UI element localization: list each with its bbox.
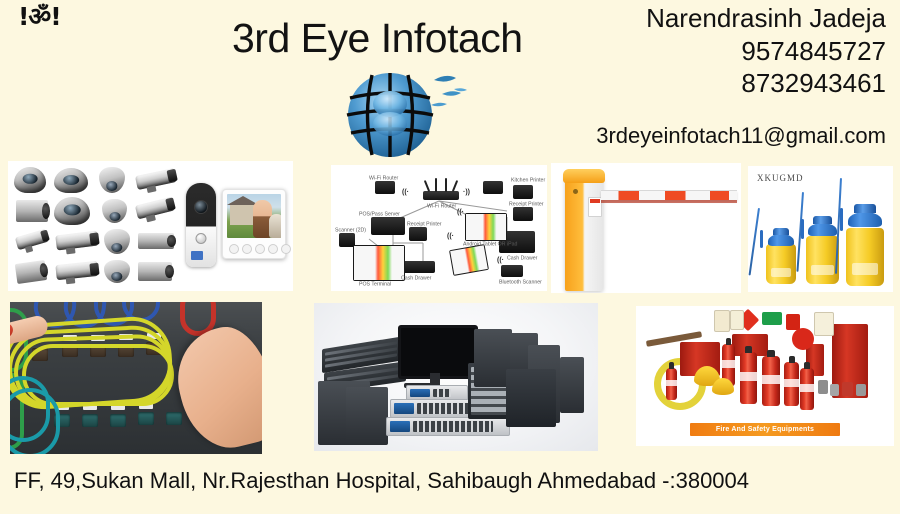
hardware-photo — [314, 303, 598, 451]
wifi-signal-icon: ((· — [402, 189, 409, 196]
fire-extinguisher-icon — [784, 362, 799, 406]
owner-name: Narendrasinh Jadeja — [506, 2, 886, 35]
globe-icon — [330, 58, 475, 163]
network-label: POS Terminal — [359, 281, 391, 287]
fire-extinguisher-icon — [740, 352, 757, 404]
patch-port — [82, 414, 98, 427]
cctv-camera-grid — [12, 165, 182, 287]
contact-block: Narendrasinh Jadeja 9574845727 873294346… — [506, 2, 886, 99]
teal-cable — [10, 388, 60, 454]
monitor-button[interactable] — [229, 244, 239, 254]
box-camera-icon — [138, 233, 174, 249]
video-door-phone — [186, 177, 286, 277]
wifi-signal-icon: ((· — [497, 257, 504, 264]
monitor-icon — [398, 325, 478, 379]
ptz-camera-icon — [102, 199, 127, 223]
pos-terminal-icon — [353, 245, 405, 281]
accessory-icon — [842, 382, 853, 396]
monitor-button[interactable] — [242, 244, 252, 254]
om-symbol-icon: !ॐ! — [18, 2, 61, 32]
panel-pos-network-diagram: ((· ·)) ((· ((· ((· — [331, 165, 547, 291]
dome-camera-icon — [14, 167, 46, 193]
network-label: Scanner (2D) — [335, 227, 366, 233]
fire-extinguisher-icon — [800, 368, 814, 410]
panel-fire-safety: Fire And Safety Equipments — [636, 306, 894, 446]
printer-icon — [375, 181, 395, 194]
safety-helmet-icon — [712, 378, 734, 395]
bullet-camera-icon — [135, 197, 175, 220]
receipt-printer-icon — [513, 207, 533, 221]
monitor-button[interactable] — [255, 244, 265, 254]
bullet-camera-icon — [55, 261, 98, 280]
wifi-router-icon — [423, 191, 459, 200]
panel-computer-hardware — [314, 303, 598, 451]
safety-poster-icon — [814, 312, 834, 336]
network-label: Wi-Fi Router — [427, 203, 456, 209]
sprayer-brand-label: XKUGMD — [757, 173, 804, 183]
patch-port — [166, 412, 182, 425]
fire-safety-banner: Fire And Safety Equipments — [690, 423, 840, 436]
safety-poster-icon — [714, 310, 730, 332]
network-label: Receipt Printer — [509, 201, 543, 207]
barrier-control-panel[interactable] — [588, 197, 602, 217]
bullet-camera-icon — [15, 229, 49, 250]
business-card-flyer: !ॐ! 3rd Eye Infotach — [0, 0, 900, 514]
barrier-arm — [601, 190, 737, 200]
network-label: Bluetooth Scanner — [499, 279, 542, 285]
safety-poster-icon — [730, 310, 744, 330]
panel-network-cabling — [10, 302, 262, 454]
wifi-signal-icon: ((· — [457, 209, 464, 216]
tablet-icon — [465, 213, 507, 241]
wifi-signal-icon: ·)) — [463, 189, 470, 196]
box-camera-icon — [138, 262, 172, 281]
door-phone-indoor-monitor — [222, 189, 286, 259]
network-label: Android Tablet OR iPad — [463, 241, 517, 247]
nas-storage-icon — [506, 369, 556, 427]
address-line: FF, 49,Sukan Mall, Nr.Rajesthan Hospital… — [14, 466, 749, 496]
bullet-camera-icon — [135, 168, 177, 190]
kitchen-printer-icon — [513, 185, 533, 199]
ptz-camera-icon — [104, 229, 130, 254]
brand-tag — [191, 251, 203, 260]
server-tower-icon — [346, 387, 388, 445]
panel-garden-sprayers: XKUGMD — [748, 166, 893, 292]
doorbell-button[interactable] — [196, 233, 207, 244]
stop-sign-icon — [792, 328, 814, 350]
ptz-camera-icon — [104, 260, 130, 283]
fire-extinguisher-icon — [762, 356, 780, 406]
wifi-signal-icon: ((· — [447, 233, 454, 240]
patch-panel-photo — [10, 302, 262, 454]
barrier-top-cap — [563, 169, 605, 183]
sprayer-icon — [766, 226, 796, 284]
receipt-printer-icon — [409, 227, 427, 241]
bullet-camera-icon — [55, 230, 99, 250]
email-address[interactable]: 3rdeyeinfotach11@gmail.com — [596, 122, 886, 150]
sprayer-icon — [846, 202, 884, 286]
monitor-button[interactable] — [268, 244, 278, 254]
box-camera-icon — [15, 260, 47, 284]
fire-extinguisher-icon — [666, 368, 677, 400]
bluetooth-scanner-icon — [501, 265, 523, 277]
cash-drawer-icon — [403, 261, 435, 273]
printer-icon — [483, 181, 503, 194]
accessory-icon — [856, 384, 866, 396]
panel-boom-barrier — [551, 163, 741, 293]
accessory-icon — [830, 384, 839, 396]
mini-pc-icon — [560, 357, 584, 413]
box-camera-icon — [16, 200, 48, 222]
phone-primary[interactable]: 9574845727 — [506, 35, 886, 67]
ptz-camera-icon — [99, 167, 125, 193]
alarm-sign-icon — [786, 314, 800, 330]
phone-secondary[interactable]: 8732943461 — [506, 67, 886, 99]
fire-safety-photo: Fire And Safety Equipments — [636, 306, 894, 446]
patch-port — [110, 414, 126, 427]
patch-port — [138, 412, 154, 425]
barrier-housing — [565, 173, 603, 291]
exit-sign-icon — [762, 312, 782, 325]
network-label: Wi-Fi Router — [369, 175, 398, 181]
network-label: Cash Drawer — [401, 275, 431, 281]
dog-image — [269, 214, 281, 238]
barrier-indicator-icon — [573, 189, 578, 194]
network-diagram: ((· ·)) ((· ((· ((· — [331, 165, 547, 291]
pos-server-icon — [371, 217, 405, 235]
network-label: Cash Drawer — [507, 255, 537, 261]
network-label: Kitchen Printer — [511, 177, 545, 183]
dome-camera-icon — [54, 197, 90, 225]
network-label: Receipt Printer — [407, 221, 441, 227]
dome-camera-icon — [54, 168, 88, 193]
door-phone-outdoor-unit — [186, 183, 216, 267]
door-camera-icon — [194, 200, 208, 214]
fire-safety-banner-label: Fire And Safety Equipments — [716, 426, 814, 433]
sprayer-icon — [806, 214, 839, 284]
monitor-screen — [227, 194, 281, 238]
monitor-button-row[interactable] — [229, 244, 291, 254]
network-label: POS/Pass Server — [359, 211, 400, 217]
monitor-button[interactable] — [281, 244, 291, 254]
panel-cctv-cameras — [8, 161, 293, 291]
accessory-icon — [818, 380, 828, 394]
network-switch-icon — [386, 417, 510, 436]
